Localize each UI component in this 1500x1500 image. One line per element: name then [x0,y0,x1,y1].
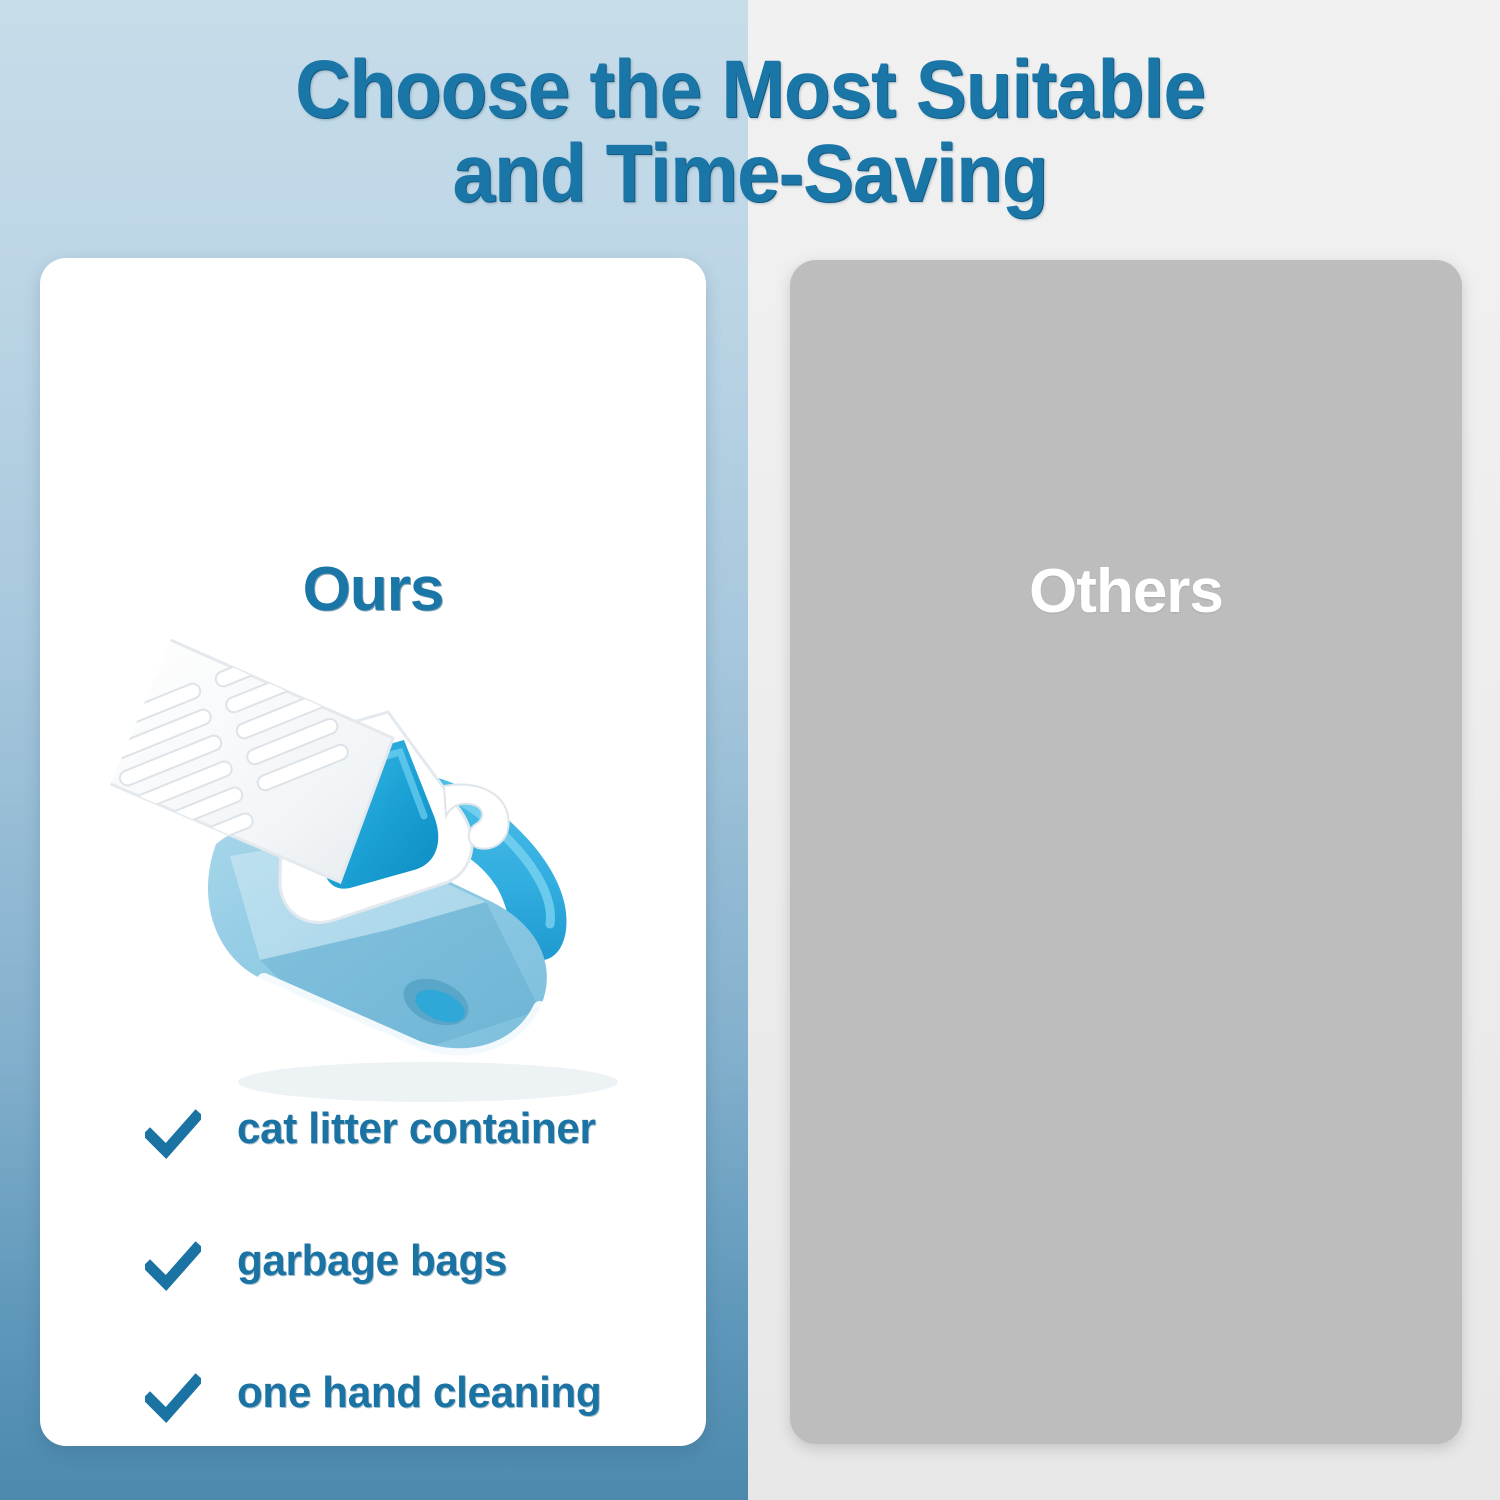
infographic-canvas: Choose the Most Suitable and Time-Saving… [0,0,1500,1500]
list-item: cat litter container [145,1103,715,1235]
comparison-card-ours: Ours [40,258,706,1446]
feature-list-ours: cat litter container garbage bags one ha… [145,1103,715,1500]
list-item-label: cat litter container [237,1103,596,1154]
card-title-ours: Ours [40,554,706,625]
check-icon [145,1107,201,1163]
page-title: Choose the Most Suitable and Time-Saving [53,48,1448,215]
list-item: garbage bags [145,1235,715,1367]
check-icon [145,1239,201,1295]
comparison-card-others: Others [790,260,1462,1444]
list-item-label: garbage bags [237,1235,507,1286]
product-image-ours [88,630,738,1110]
card-title-others: Others [790,556,1462,627]
check-icon [145,1371,201,1427]
list-item-label: one hand cleaning [237,1367,601,1418]
list-item: one hand cleaning [145,1367,715,1499]
